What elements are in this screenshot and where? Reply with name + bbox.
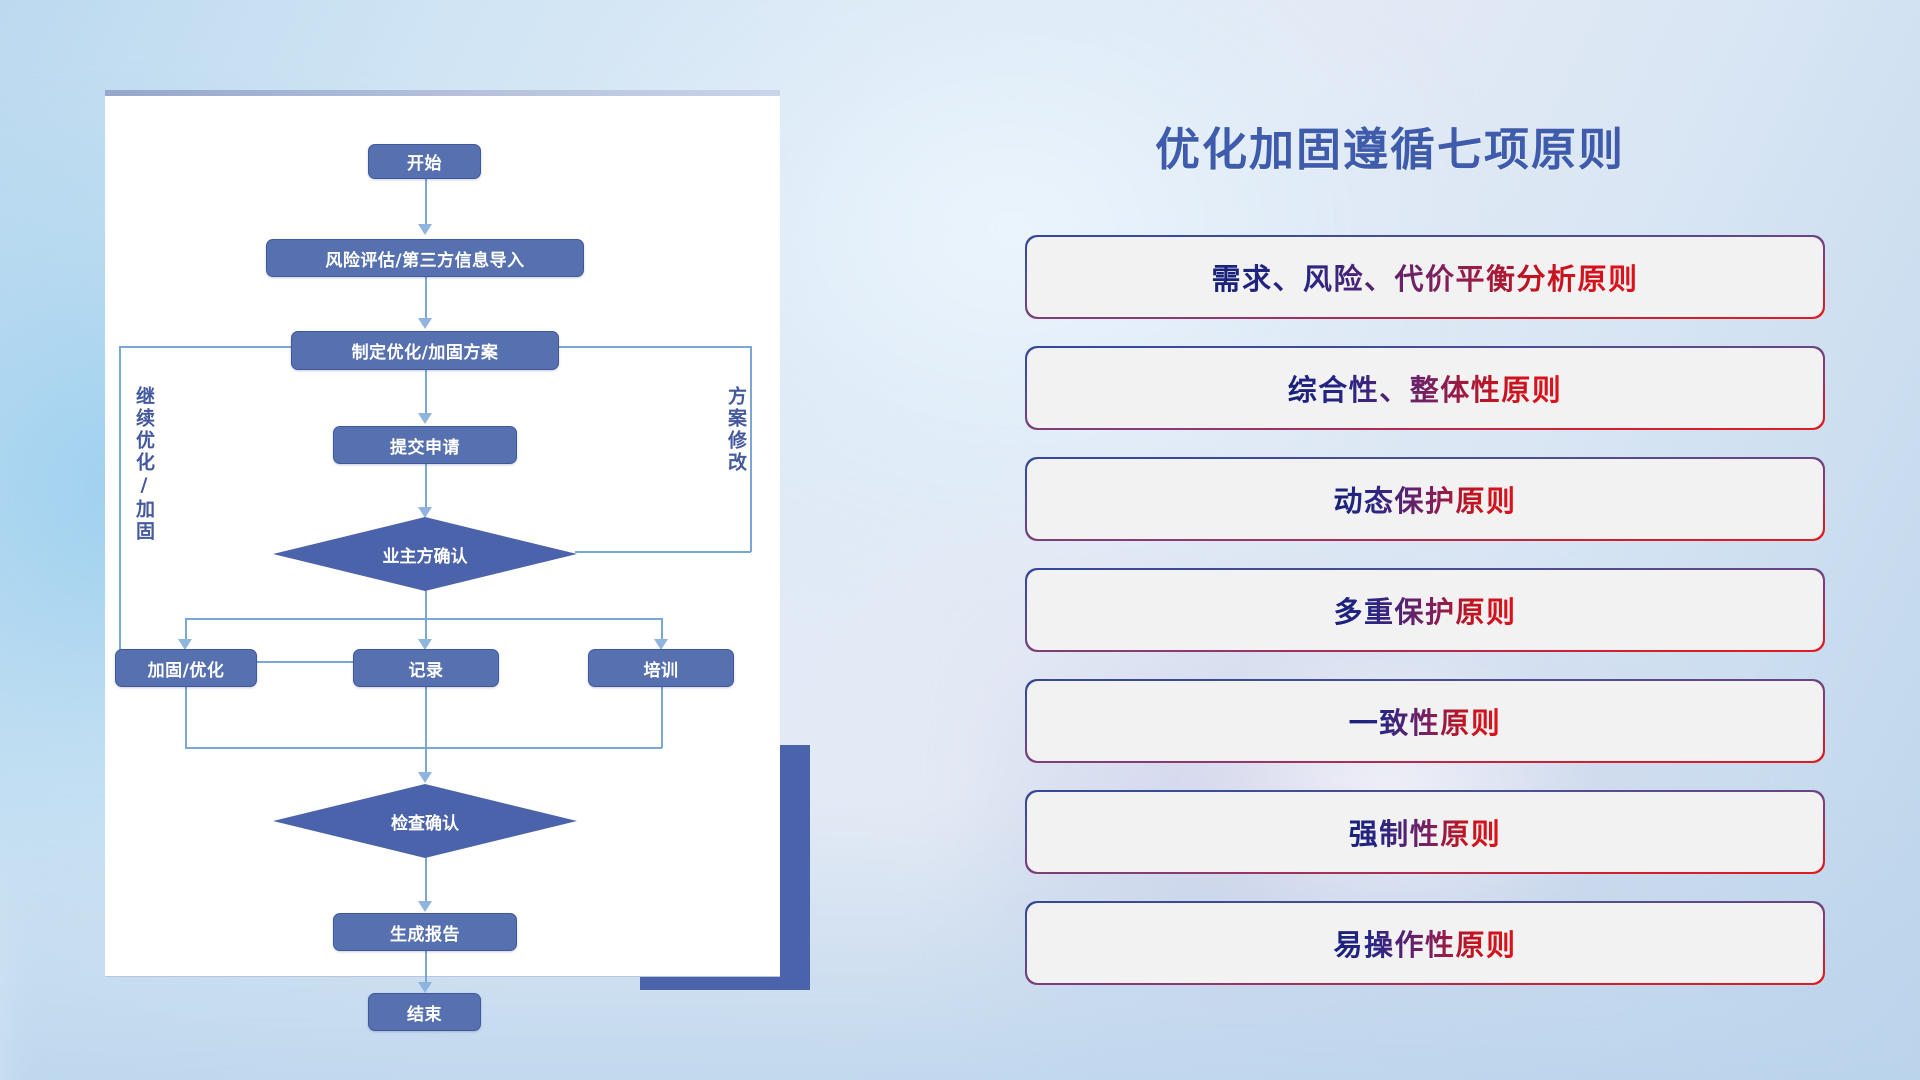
- node-owner-confirm-label: 业主方确认: [383, 542, 468, 567]
- node-owner-confirm[interactable]: 业主方确认: [273, 517, 577, 591]
- connector-branch-bus: [185, 618, 662, 620]
- edge-label-plan-revision: 方案修改: [725, 386, 745, 474]
- node-training-label: 培训: [644, 656, 679, 681]
- principle-card-5-label: 一致性原则: [1349, 700, 1502, 742]
- connector-record-down: [425, 686, 427, 778]
- arrow-risk-plan: [418, 318, 432, 329]
- connector-owner-down: [425, 588, 427, 618]
- connector-training-down: [661, 686, 663, 748]
- arrow-plan-submit: [418, 413, 432, 424]
- arrow-to-check: [418, 772, 432, 783]
- principle-card-3-label: 动态保护原则: [1333, 478, 1516, 520]
- principle-card-1[interactable]: 需求、风险、代价平衡分析原则: [1025, 235, 1825, 319]
- node-start-label: 开始: [407, 149, 442, 174]
- principle-card-4[interactable]: 多重保护原则: [1025, 568, 1825, 652]
- connector-left-up: [119, 346, 121, 662]
- principle-card-7[interactable]: 易操作性原则: [1025, 901, 1825, 985]
- connector-owner-right: [575, 551, 751, 553]
- arrow-report-end: [418, 982, 432, 993]
- principle-card-5[interactable]: 一致性原则: [1025, 679, 1825, 763]
- flowchart-card: 继续优化/加固 方案修改 开始 风险评估/第三方信息导入: [105, 96, 780, 976]
- connector-reinforce-down: [185, 686, 187, 748]
- principles-list: 需求、风险、代价平衡分析原则 综合性、整体性原则 动态保护原则 多重保护原则 一…: [1025, 235, 1825, 1012]
- node-reinforce[interactable]: 加固/优化: [115, 649, 257, 687]
- principle-card-3[interactable]: 动态保护原则: [1025, 457, 1825, 541]
- principle-card-2[interactable]: 综合性、整体性原则: [1025, 346, 1825, 430]
- connector-right-up: [750, 346, 752, 552]
- node-record-label: 记录: [409, 656, 444, 681]
- node-check-confirm-label: 检查确认: [391, 809, 459, 834]
- page-title: 优化加固遵循七项原则: [1155, 113, 1625, 178]
- node-plan[interactable]: 制定优化/加固方案: [291, 331, 559, 370]
- principle-card-4-label: 多重保护原则: [1333, 589, 1516, 631]
- principle-card-1-label: 需求、风险、代价平衡分析原则: [1211, 256, 1638, 298]
- node-report[interactable]: 生成报告: [333, 913, 517, 951]
- node-end-label: 结束: [407, 1000, 442, 1025]
- arrow-check-report: [418, 901, 432, 912]
- node-plan-label: 制定优化/加固方案: [352, 338, 499, 363]
- node-check-confirm[interactable]: 检查确认: [273, 784, 577, 858]
- principle-card-7-label: 易操作性原则: [1333, 922, 1516, 964]
- node-reinforce-label: 加固/优化: [148, 656, 225, 681]
- node-submit-label: 提交申请: [390, 433, 460, 458]
- principle-card-2-label: 综合性、整体性原则: [1288, 367, 1563, 409]
- node-record[interactable]: 记录: [353, 649, 499, 687]
- arrow-start-risk: [418, 224, 432, 235]
- connector-merge-bus: [185, 747, 662, 749]
- node-submit[interactable]: 提交申请: [333, 426, 517, 464]
- principle-card-6-label: 强制性原则: [1349, 811, 1502, 853]
- principle-card-6[interactable]: 强制性原则: [1025, 790, 1825, 874]
- edge-label-continue-optimize: 继续优化/加固: [133, 386, 153, 543]
- node-start[interactable]: 开始: [368, 144, 481, 179]
- node-end[interactable]: 结束: [368, 993, 481, 1031]
- node-risk-assessment[interactable]: 风险评估/第三方信息导入: [266, 239, 584, 277]
- node-risk-assessment-label: 风险评估/第三方信息导入: [325, 246, 524, 271]
- node-report-label: 生成报告: [390, 920, 460, 945]
- node-training[interactable]: 培训: [588, 649, 734, 687]
